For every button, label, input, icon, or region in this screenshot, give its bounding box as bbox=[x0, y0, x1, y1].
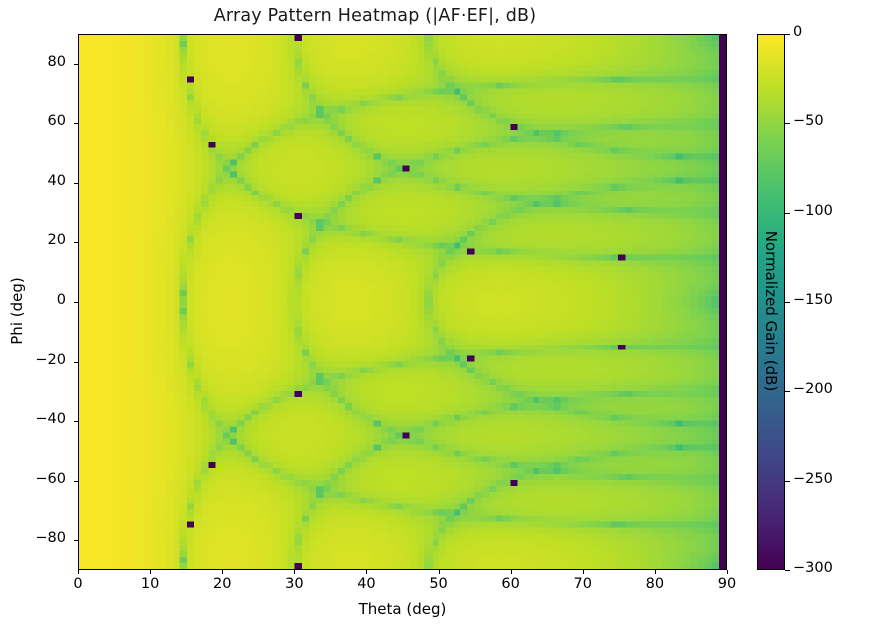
colorbar-tick-label: 0 bbox=[793, 24, 802, 40]
colorbar-tick bbox=[785, 123, 790, 124]
heatmap-axes[interactable] bbox=[78, 34, 727, 570]
y-axis-title: Phi (deg) bbox=[8, 191, 26, 431]
y-tick bbox=[74, 421, 78, 422]
y-tick-label: 60 bbox=[0, 113, 66, 129]
x-tick-label: 60 bbox=[481, 576, 541, 592]
x-tick-label: 40 bbox=[336, 576, 396, 592]
y-tick-label: 80 bbox=[0, 54, 66, 70]
colorbar-tick-label: −50 bbox=[793, 113, 824, 129]
x-tick bbox=[150, 570, 151, 574]
colorbar-tick-label: −150 bbox=[793, 292, 833, 308]
y-tick-label: 40 bbox=[0, 173, 66, 189]
y-tick-label: −80 bbox=[0, 530, 66, 546]
x-tick-label: 70 bbox=[553, 576, 613, 592]
x-tick-label: 10 bbox=[120, 576, 180, 592]
x-tick-label: 0 bbox=[48, 576, 108, 592]
x-tick-label: 50 bbox=[409, 576, 469, 592]
x-tick-label: 90 bbox=[697, 576, 757, 592]
figure-canvas: Array Pattern Heatmap (|AF·EF|, dB) 0102… bbox=[0, 0, 885, 637]
heatmap-image[interactable] bbox=[79, 35, 726, 569]
colorbar-tick-label: −300 bbox=[793, 560, 833, 576]
colorbar-tick-label: −200 bbox=[793, 381, 833, 397]
colorbar-tick bbox=[785, 302, 790, 303]
y-tick bbox=[74, 64, 78, 65]
x-tick bbox=[727, 570, 728, 574]
colorbar-tick bbox=[785, 481, 790, 482]
colorbar-tick bbox=[785, 391, 790, 392]
colorbar-tick bbox=[785, 213, 790, 214]
x-tick bbox=[294, 570, 295, 574]
x-tick bbox=[511, 570, 512, 574]
x-tick bbox=[655, 570, 656, 574]
colorbar-tick-label: −250 bbox=[793, 471, 833, 487]
x-tick bbox=[78, 570, 79, 574]
y-tick bbox=[74, 362, 78, 363]
colorbar-tick bbox=[785, 34, 790, 35]
y-tick bbox=[74, 183, 78, 184]
colorbar-title: Normalized Gain (dB) bbox=[762, 161, 780, 461]
x-tick-label: 80 bbox=[625, 576, 685, 592]
x-tick bbox=[583, 570, 584, 574]
x-tick-label: 30 bbox=[264, 576, 324, 592]
x-tick bbox=[222, 570, 223, 574]
y-tick bbox=[74, 540, 78, 541]
chart-title: Array Pattern Heatmap (|AF·EF|, dB) bbox=[0, 6, 750, 26]
x-tick-label: 20 bbox=[192, 576, 252, 592]
y-tick-label: −60 bbox=[0, 471, 66, 487]
x-tick bbox=[439, 570, 440, 574]
x-tick bbox=[366, 570, 367, 574]
colorbar-tick bbox=[785, 570, 790, 571]
y-tick bbox=[74, 123, 78, 124]
y-tick bbox=[74, 481, 78, 482]
colorbar-tick-label: −100 bbox=[793, 203, 833, 219]
y-tick bbox=[74, 242, 78, 243]
x-axis-title: Theta (deg) bbox=[78, 600, 727, 618]
y-tick bbox=[74, 302, 78, 303]
